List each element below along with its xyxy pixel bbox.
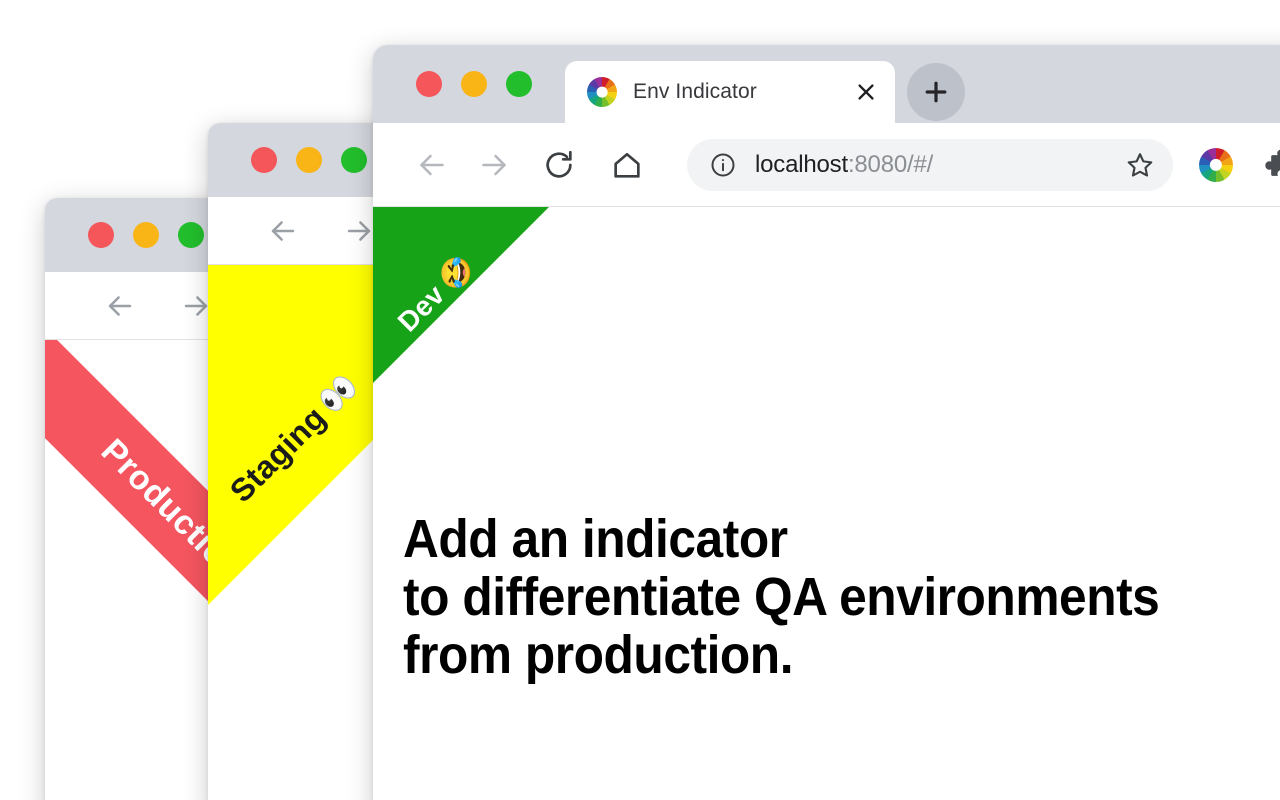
maximize-window-button[interactable]	[506, 71, 532, 97]
close-window-button[interactable]	[251, 147, 277, 173]
tab-title: Env Indicator	[633, 80, 757, 104]
maximize-window-button[interactable]	[341, 147, 367, 173]
screen: Production ⚠️	[0, 0, 1280, 800]
rofl-icon: 🤣	[432, 249, 480, 297]
eyes-icon: 👀	[311, 366, 366, 421]
toolbar: localhost:8080/#/	[373, 123, 1280, 207]
minimize-window-button[interactable]	[461, 71, 487, 97]
env-ribbon-label-wrap: Dev 🤣	[391, 249, 480, 338]
extension-icons	[1173, 146, 1280, 184]
url-host: localhost	[755, 151, 848, 178]
headline-line-1: Add an indicator	[403, 510, 1159, 568]
close-tab-button[interactable]	[851, 77, 881, 107]
color-wheel-icon	[587, 77, 617, 107]
traffic-lights	[88, 222, 204, 248]
maximize-window-button[interactable]	[178, 222, 204, 248]
env-ribbon-label: Dev	[391, 278, 451, 338]
forward-arrow-icon[interactable]	[463, 147, 525, 183]
star-icon[interactable]	[1119, 144, 1161, 186]
page-headline: Add an indicator to differentiate QA env…	[403, 510, 1159, 684]
minimize-window-button[interactable]	[133, 222, 159, 248]
env-ribbon-label-wrap: Staging 👀	[222, 366, 366, 510]
home-icon[interactable]	[593, 148, 661, 182]
env-ribbon-dev: Dev 🤣	[373, 207, 1280, 800]
env-ribbon-triangle	[373, 207, 549, 383]
headline-line-3: from production.	[403, 626, 1159, 684]
url-path: :8080/#/	[848, 151, 933, 178]
traffic-lights	[251, 147, 367, 173]
traffic-lights	[416, 71, 532, 97]
env-ribbon-label: Staging	[222, 399, 333, 510]
headline-line-2: to differentiate QA environments	[403, 568, 1159, 626]
page-viewport: Dev 🤣 Add an indicator to differentiate …	[373, 207, 1280, 800]
titlebar: Env Indicator	[373, 45, 1280, 123]
back-arrow-icon[interactable]	[266, 214, 300, 248]
back-arrow-icon[interactable]	[103, 289, 137, 323]
address-bar[interactable]: localhost:8080/#/	[687, 139, 1173, 191]
info-circle-icon[interactable]	[709, 151, 737, 179]
reload-icon[interactable]	[525, 148, 593, 182]
puzzle-piece-icon[interactable]	[1265, 146, 1280, 184]
url-text: localhost:8080/#/	[755, 151, 933, 179]
new-tab-button[interactable]	[907, 63, 965, 121]
minimize-window-button[interactable]	[296, 147, 322, 173]
color-wheel-icon[interactable]	[1199, 148, 1233, 182]
back-arrow-icon[interactable]	[401, 147, 463, 183]
forward-arrow-icon[interactable]	[342, 214, 376, 248]
close-window-button[interactable]	[416, 71, 442, 97]
close-window-button[interactable]	[88, 222, 114, 248]
tab-env-indicator[interactable]: Env Indicator	[565, 61, 895, 123]
tab-strip: Env Indicator	[565, 61, 965, 123]
browser-window-dev[interactable]: Env Indicator	[373, 45, 1280, 800]
